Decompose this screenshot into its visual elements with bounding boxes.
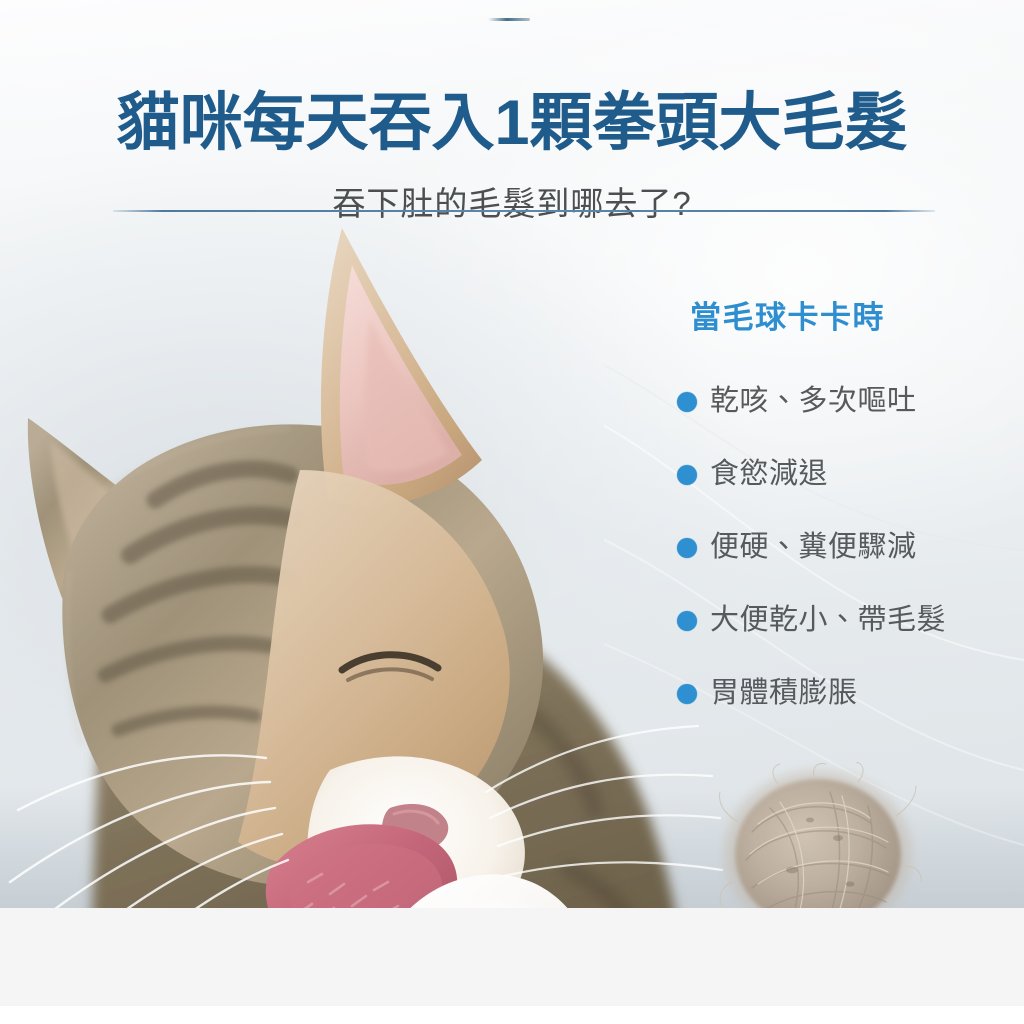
symptom-list: 乾咳、多次嘔吐 食慾減退 便硬、糞便驟減 大便乾小、帶毛髮 胃體積膨脹 bbox=[660, 365, 946, 730]
symptom-label: 大便乾小、帶毛髮 bbox=[710, 605, 946, 637]
infographic-poster: 貓咪每天吞入1顆拳頭大毛髮 吞下肚的毛髮到哪去了? 當毛球卡卡時 乾咳、多次嘔吐… bbox=[0, 0, 1024, 1024]
cat-illustration bbox=[0, 170, 730, 908]
list-item: 胃體積膨脹 bbox=[660, 657, 946, 730]
symptom-label: 便硬、糞便驟減 bbox=[710, 532, 917, 564]
symptom-label: 乾咳、多次嘔吐 bbox=[710, 386, 917, 418]
bullet-dot-icon bbox=[677, 684, 697, 704]
bullet-dot-icon bbox=[677, 611, 697, 631]
bullet-dot-icon bbox=[677, 392, 697, 412]
bullet-dot-icon bbox=[677, 538, 697, 558]
list-item: 大便乾小、帶毛髮 bbox=[660, 584, 946, 657]
header-divider bbox=[113, 210, 935, 212]
bullet-dot-icon bbox=[677, 465, 697, 485]
bottom-white-margin bbox=[0, 1006, 1024, 1024]
symptom-label: 胃體積膨脹 bbox=[710, 678, 858, 710]
page-title: 貓咪每天吞入1顆拳頭大毛髮 bbox=[0, 92, 1024, 155]
page-subtitle: 吞下肚的毛髮到哪去了? bbox=[0, 183, 1024, 224]
hairball bbox=[718, 762, 923, 908]
symptom-panel-heading: 當毛球卡卡時 bbox=[690, 292, 885, 337]
list-item: 食慾減退 bbox=[660, 438, 946, 511]
bottom-strip bbox=[0, 908, 1024, 1006]
top-tick-mark bbox=[488, 18, 530, 21]
list-item: 便硬、糞便驟減 bbox=[660, 511, 946, 584]
list-item: 乾咳、多次嘔吐 bbox=[660, 365, 946, 438]
symptom-label: 食慾減退 bbox=[710, 459, 828, 491]
